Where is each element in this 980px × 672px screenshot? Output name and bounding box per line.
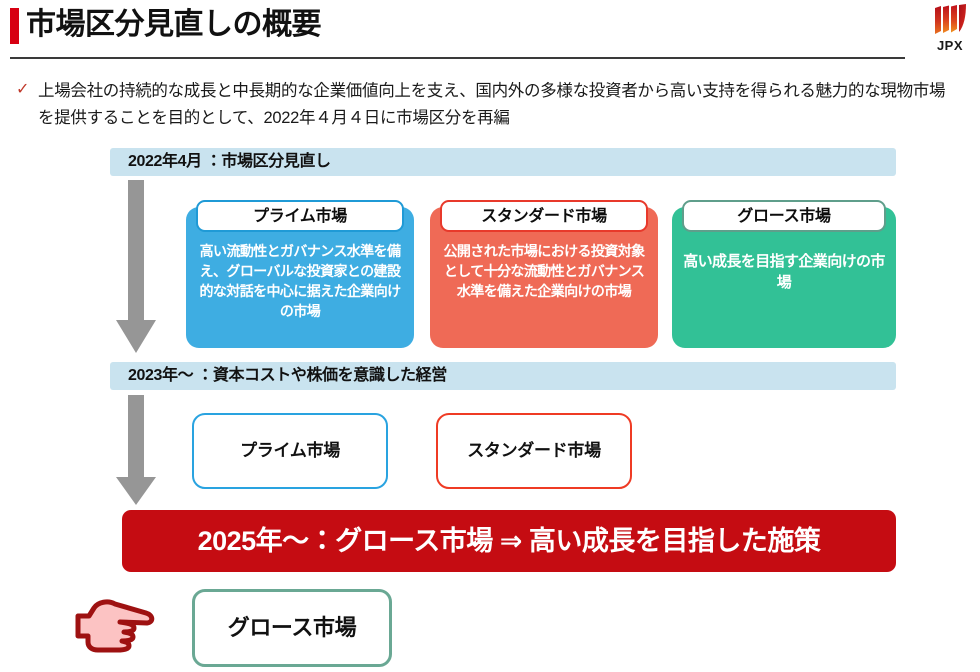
outlined-box-standard: スタンダード市場 — [436, 413, 632, 489]
section-header-2023: 2023年～ ：資本コストや株価を意識した経営 — [110, 362, 896, 390]
lead-text: 上場会社の持続的な成長と中長期的な企業価値向上を支え、国内外の多様な投資者から高… — [38, 78, 946, 132]
outlined-box-standard-label: スタンダード市場 — [438, 415, 630, 487]
outlined-box-prime: プライム市場 — [192, 413, 388, 489]
growth-callout-box: グロース市場 — [192, 589, 392, 667]
title-accent-bar — [10, 8, 19, 44]
section-label-2022: 2022年4月 ：市場区分見直し — [128, 148, 331, 176]
jpx-wordmark: JPX — [925, 38, 975, 53]
section-label-2023: 2023年～ ：資本コストや株価を意識した経営 — [128, 362, 447, 390]
section-header-2022: 2022年4月 ：市場区分見直し — [110, 148, 896, 176]
market-card-standard-body: 公開された市場における投資対象として十分な流動性とガバナンス水準を備えた企業向け… — [438, 241, 650, 301]
growth-callout-label: グロース市場 — [195, 592, 389, 664]
slide-header: 市場区分見直しの概要 — [0, 0, 980, 62]
arrow-down-icon-2 — [114, 395, 158, 508]
market-card-growth-body: 高い成長を目指す企業向けの市場 — [680, 251, 888, 293]
jpx-logo-bars — [925, 4, 975, 38]
pointing-hand-right-icon — [58, 598, 164, 660]
market-card-prime: プライム市場 高い流動性とガバナンス水準を備え、グローバルな投資家との建設的な対… — [186, 207, 414, 348]
market-card-prime-title-plate: プライム市場 — [196, 200, 404, 232]
header-divider — [10, 57, 905, 59]
market-card-growth-title-plate: グロース市場 — [682, 200, 886, 232]
check-icon: ✓ — [16, 80, 34, 100]
arrow-down-icon-1 — [114, 180, 158, 356]
market-card-standard-title: スタンダード市場 — [442, 202, 646, 230]
market-card-standard: スタンダード市場 公開された市場における投資対象として十分な流動性とガバナンス水… — [430, 207, 658, 348]
lead-paragraph: ✓ 上場会社の持続的な成長と中長期的な企業価値向上を支え、国内外の多様な投資者か… — [16, 78, 946, 132]
jpx-logo: JPX — [925, 4, 975, 56]
market-card-growth-title: グロース市場 — [684, 202, 884, 230]
highlight-banner-2025: 2025年～：グロース市場 ⇒ 高い成長を目指した施策 — [122, 510, 896, 572]
market-card-prime-title: プライム市場 — [198, 202, 402, 230]
market-card-prime-body: 高い流動性とガバナンス水準を備え、グローバルな投資家との建設的な対話を中心に据え… — [194, 241, 406, 321]
highlight-banner-text: 2025年～：グロース市場 ⇒ 高い成長を目指した施策 — [122, 510, 896, 572]
market-card-growth: グロース市場 高い成長を目指す企業向けの市場 — [672, 207, 896, 348]
page-title: 市場区分見直しの概要 — [26, 4, 321, 46]
market-card-standard-title-plate: スタンダード市場 — [440, 200, 648, 232]
outlined-box-prime-label: プライム市場 — [194, 415, 386, 487]
